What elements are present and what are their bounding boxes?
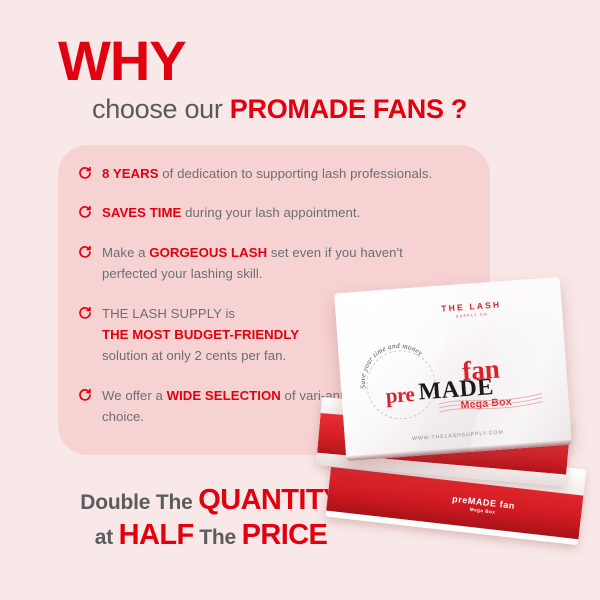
tagline-price: PRICE (242, 519, 328, 551)
tagline-line-1: Double The QUANTITY (76, 483, 346, 518)
wordmark-fan: fan (461, 354, 501, 388)
headline-product-name: PROMADE FANS ? (230, 94, 467, 124)
wordmark-pre: pre (385, 382, 415, 409)
benefit-emphasis: GORGEOUS LASH (149, 245, 267, 260)
benefit-item-saves-time: SAVES TIME during your lash appointment. (78, 202, 438, 223)
headline-why: WHY (58, 33, 558, 89)
refresh-arc-icon (78, 306, 92, 320)
benefit-item-gorgeous-lash: Make a GORGEOUS LASH set even if you hav… (78, 242, 438, 285)
benefit-plain: solution at only 2 cents per fan. (102, 348, 286, 363)
benefit-emphasis: THE MOST BUDGET-FRIENDLY (102, 327, 299, 342)
benefit-text: Make a GORGEOUS LASH set even if you hav… (102, 242, 438, 285)
benefit-plain: Make a (102, 245, 149, 260)
tagline-half: HALF (119, 519, 194, 551)
benefit-plain: THE LASH SUPPLY is (102, 306, 235, 321)
tagline-double-the: Double The (80, 491, 198, 514)
headline-choose-prefix: choose our (92, 94, 230, 124)
tagline-at: at (95, 526, 119, 549)
product-image: preMADE fan Mega Box preMADE fan Mega Bo… (318, 285, 600, 575)
benefit-plain: during your lash appointment. (181, 205, 360, 220)
tagline-the: The (194, 526, 242, 549)
refresh-arc-icon (78, 205, 92, 219)
tagline-line-2: at HALF The PRICE (76, 518, 346, 553)
benefit-plain: We offer a (102, 388, 167, 403)
benefit-text: 8 YEARS of dedication to supporting lash… (102, 163, 438, 184)
bottom-tagline: Double The QUANTITY at HALF The PRICE (76, 483, 346, 554)
promo-graphic: WHY choose our PROMADE FANS ? 8 YEARS of… (0, 0, 600, 600)
headline-block: WHY choose our PROMADE FANS ? (58, 33, 558, 123)
benefit-emphasis: SAVES TIME (102, 205, 181, 220)
headline-subline: choose our PROMADE FANS ? (92, 95, 558, 123)
benefit-text: SAVES TIME during your lash appointment. (102, 202, 438, 223)
refresh-arc-icon (78, 166, 92, 180)
benefit-item-years: 8 YEARS of dedication to supporting lash… (78, 163, 438, 184)
benefit-emphasis: WIDE SELECTION (167, 388, 281, 403)
brand-logo: THE LASH SUPPLY CO (441, 299, 502, 319)
product-box-main: THE LASH SUPPLY CO Save your time and mo… (334, 277, 572, 461)
refresh-arc-icon (78, 245, 92, 259)
benefit-emphasis: 8 YEARS (102, 166, 159, 181)
refresh-arc-icon (78, 388, 92, 402)
benefit-plain: of dedication to supporting lash profess… (159, 166, 433, 181)
